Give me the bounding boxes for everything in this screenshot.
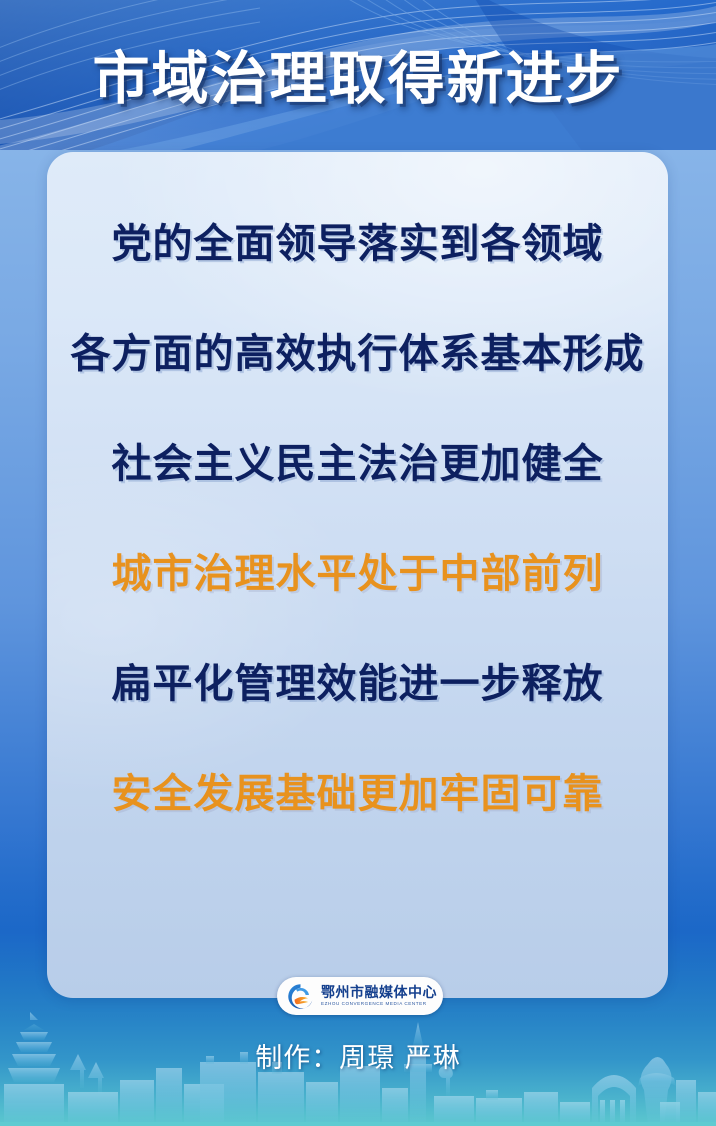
achievement-list: 党的全面领导落实到各领域 各方面的高效执行体系基本形成 社会主义民主法治更加健全… <box>47 152 668 814</box>
list-item: 扁平化管理效能进一步释放 <box>112 664 604 704</box>
content-card: 党的全面领导落实到各领域 各方面的高效执行体系基本形成 社会主义民主法治更加健全… <box>47 152 668 998</box>
list-item: 社会主义民主法治更加健全 <box>112 444 604 484</box>
logo-text-block: 鄂州市融媒体中心 EZHOU CONVERGENCE MEDIA CENTER <box>321 986 437 1007</box>
list-item: 党的全面领导落实到各领域 <box>112 224 604 264</box>
list-item: 安全发展基础更加牢固可靠 <box>112 774 604 814</box>
list-item: 城市治理水平处于中部前列 <box>112 554 604 594</box>
logo-name-en: EZHOU CONVERGENCE MEDIA CENTER <box>321 1002 437 1007</box>
poster: 市域治理取得新进步 党的全面领导落实到各领域 各方面的高效执行体系基本形成 社会… <box>0 0 716 1126</box>
logo-name-cn: 鄂州市融媒体中心 <box>321 986 437 1000</box>
media-center-logo: 鄂州市融媒体中心 EZHOU CONVERGENCE MEDIA CENTER <box>277 977 443 1015</box>
ezhou-e-swoosh-icon <box>287 983 314 1010</box>
list-item: 各方面的高效执行体系基本形成 <box>71 334 645 374</box>
credit-line: 制作：周璟 严琳 <box>0 1036 716 1075</box>
bottom-edge-line <box>0 1122 716 1126</box>
page-title: 市域治理取得新进步 <box>0 33 716 115</box>
